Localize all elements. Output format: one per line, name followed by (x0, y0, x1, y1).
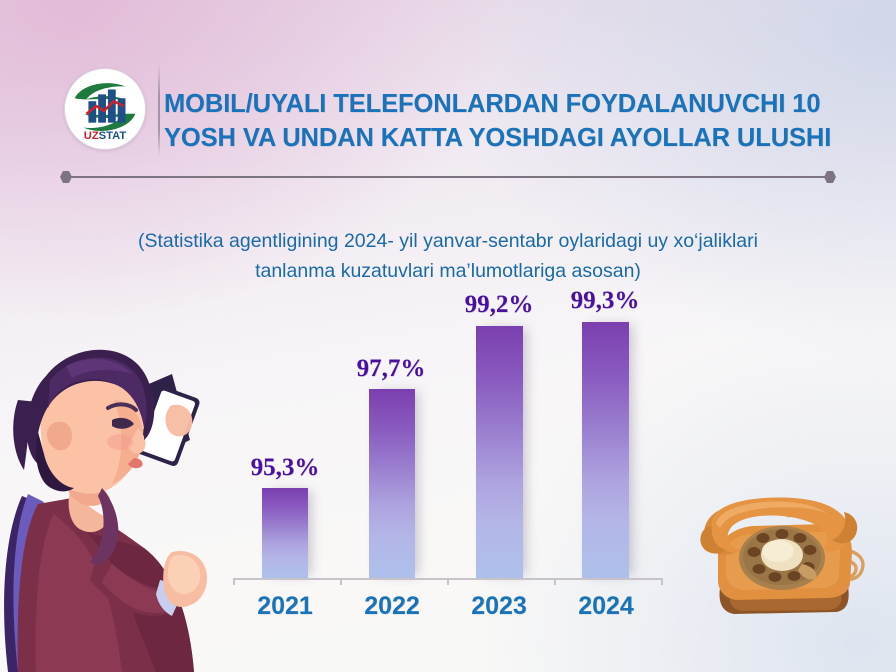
logo-circle: UZSTAT (64, 68, 146, 150)
bar-value-label: 99,3% (557, 288, 653, 313)
infographic-canvas: UZSTAT MOBIL/UYALI TELEFONLARDAN FOYDALA… (0, 0, 896, 672)
axis-tick (340, 578, 342, 585)
x-axis-line (233, 578, 663, 580)
axis-tick (447, 578, 449, 585)
logo-graphic: UZSTAT (65, 69, 145, 149)
woman-with-smartphone-illustration (0, 336, 242, 672)
bar-value-label: 95,3% (237, 455, 333, 480)
bar-value-label: 99,2% (451, 292, 547, 317)
chart-subtitle: (Statistika agentligining 2024- yil yanv… (108, 226, 788, 286)
header: UZSTAT MOBIL/UYALI TELEFONLARDAN FOYDALA… (0, 62, 896, 162)
page-title: MOBIL/UYALI TELEFONLARDAN FOYDALANUVCHI … (158, 87, 864, 155)
bar-2024[interactable] (582, 322, 629, 578)
bar-2023[interactable] (476, 326, 523, 578)
axis-tick (554, 578, 556, 585)
divider-line (66, 176, 830, 178)
vintage-rotary-telephone-illustration (690, 492, 896, 642)
axis-tick (661, 578, 663, 585)
divider-dot-right-icon (824, 171, 836, 183)
logo-wordmark: UZSTAT (84, 130, 127, 142)
uzstat-logo: UZSTAT (64, 68, 146, 150)
bar-2021[interactable] (262, 488, 308, 578)
x-axis-label-2022: 2022 (344, 594, 440, 619)
x-axis-label-2021: 2021 (237, 594, 333, 619)
x-axis-label-2023: 2023 (451, 594, 547, 619)
bar-2022[interactable] (369, 389, 415, 578)
x-axis-label-2024: 2024 (558, 594, 654, 619)
section-divider (60, 170, 836, 184)
bar-value-label: 97,7% (343, 356, 439, 381)
